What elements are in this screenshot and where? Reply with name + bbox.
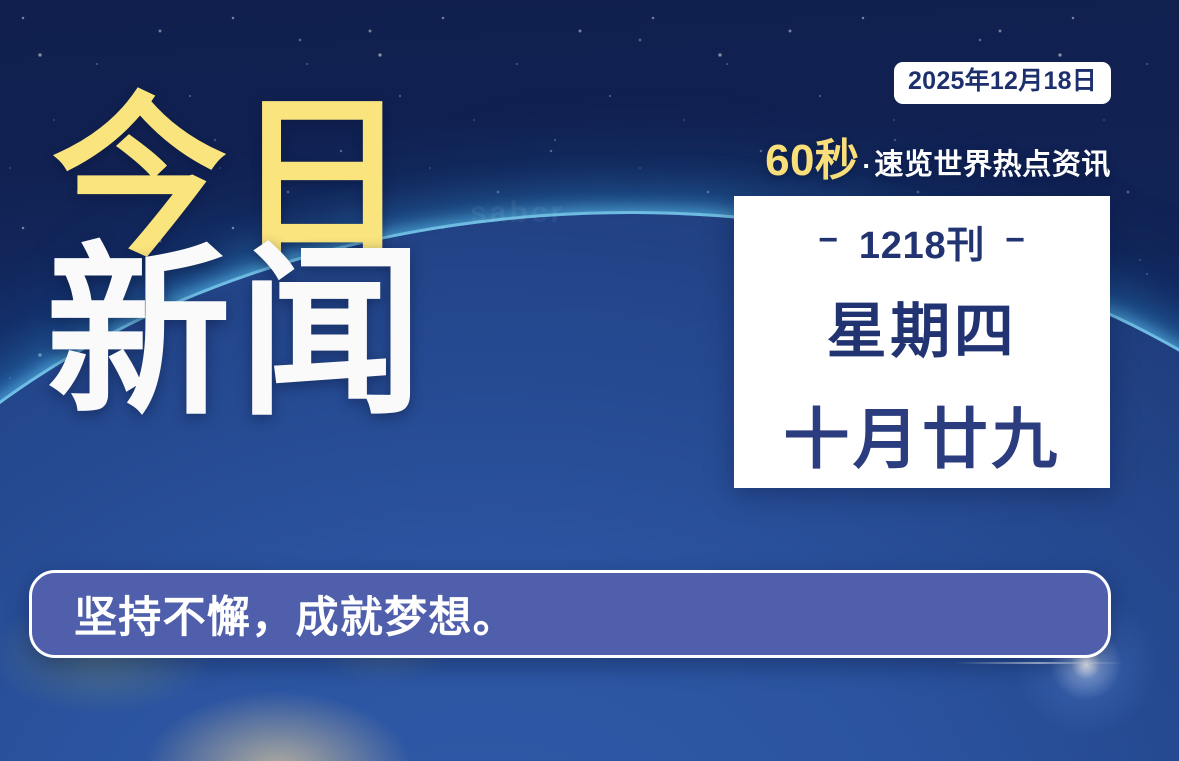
tagline-text: 速览世界热点资讯 (874, 151, 1111, 183)
watermark-text: sabcr (470, 196, 565, 230)
issue-row: − 1218刊 − (818, 214, 1026, 269)
quote-bar: 坚持不懈，成就梦想。 (29, 570, 1111, 658)
weekday-label: 星期四 (827, 283, 1018, 370)
date-badge: 2025年12月18日 (894, 62, 1111, 104)
poster-canvas: 今日 新闻 sabcr 2025年12月18日 60秒 · 速览世界热点资讯 −… (0, 0, 1179, 761)
headline-line-xinwen: 新闻 (46, 246, 692, 424)
tagline: 60秒 · 速览世界热点资讯 (765, 139, 1111, 183)
quote-text: 坚持不懈，成就梦想。 (32, 583, 517, 645)
issue-dash-left: − (818, 223, 839, 257)
lunar-date-label: 十月廿九 (783, 386, 1060, 482)
tagline-seconds: 60秒 (765, 139, 859, 183)
tagline-separator: · (859, 153, 874, 183)
date-info-card: − 1218刊 − 星期四 十月廿九 (734, 196, 1110, 488)
issue-dash-right: − (1005, 223, 1026, 257)
issue-number: 1218刊 (859, 214, 985, 269)
headline-block: 今日 新闻 (52, 96, 692, 424)
